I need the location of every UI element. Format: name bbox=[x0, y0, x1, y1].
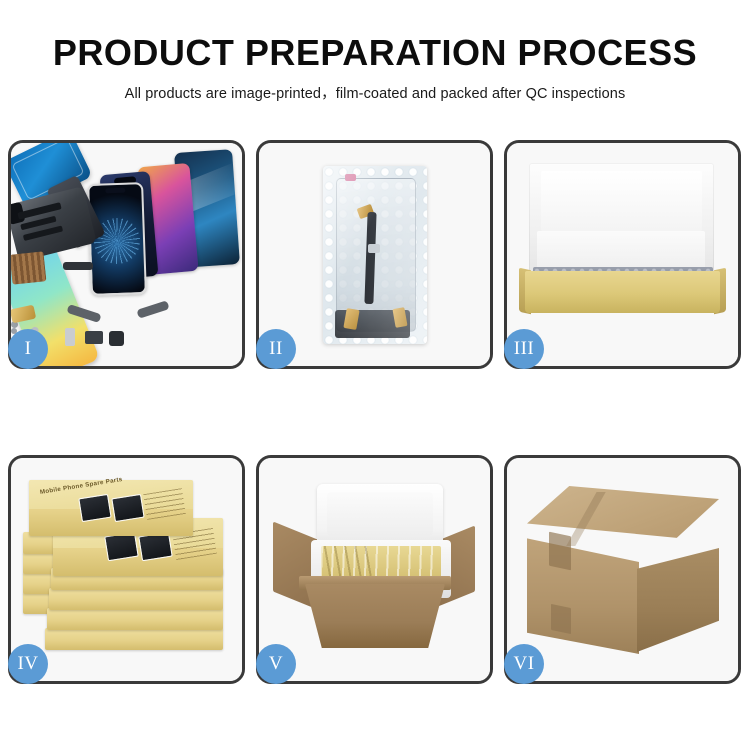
step-image-3 bbox=[507, 143, 738, 366]
box-spec-lines-icon bbox=[144, 488, 187, 520]
step-badge-5: V bbox=[256, 644, 296, 684]
box-product-photo-icon bbox=[104, 532, 138, 562]
flex-cable-part-icon bbox=[136, 300, 169, 318]
box-product-photo-icon bbox=[138, 532, 172, 562]
stack-box-edge bbox=[49, 588, 223, 610]
step-badge-4: IV bbox=[8, 644, 48, 684]
step-badge-2: II bbox=[256, 329, 296, 369]
step-panel-3: III bbox=[504, 140, 741, 369]
step-badge-1: I bbox=[8, 329, 48, 369]
circuit-grid-part-icon bbox=[11, 251, 46, 284]
open-carton-icon bbox=[273, 484, 475, 662]
carton-body-icon bbox=[305, 584, 445, 648]
box-product-photo-icon bbox=[111, 493, 144, 522]
step-panel-1: I bbox=[8, 140, 245, 369]
step-panel-5: V bbox=[256, 455, 493, 684]
step-panel-2: II bbox=[256, 140, 493, 369]
bubble-wrap-bag-icon bbox=[323, 166, 427, 344]
step-badge-3: III bbox=[504, 329, 544, 369]
stack-box-edge bbox=[45, 628, 223, 650]
black-bar-part-icon bbox=[63, 262, 93, 270]
page-header: PRODUCT PREPARATION PROCESS All products… bbox=[0, 0, 750, 103]
phones-and-parts-scene bbox=[11, 143, 242, 366]
box-product-photo-icon bbox=[78, 493, 111, 522]
page-subtitle: All products are image-printed，film-coat… bbox=[0, 82, 750, 103]
carton-side-face-icon bbox=[637, 548, 719, 652]
sealed-carton-icon bbox=[527, 486, 719, 656]
page-title: PRODUCT PREPARATION PROCESS bbox=[0, 34, 750, 72]
carton-front-face-icon bbox=[527, 536, 639, 654]
stacked-boxes-icon: Mobile Phone Spare Parts Mobile Phone Sp… bbox=[23, 480, 231, 666]
step-image-2 bbox=[259, 143, 490, 366]
step-panel-4: Mobile Phone Spare Parts Mobile Phone Sp… bbox=[8, 455, 245, 684]
yellow-box-body-icon bbox=[525, 271, 720, 313]
stack-box-top: Mobile Phone Spare Parts bbox=[29, 480, 193, 536]
step-image-1 bbox=[11, 143, 242, 366]
stack-box-edge bbox=[47, 608, 223, 630]
step-image-6 bbox=[507, 458, 738, 681]
camera-module-part-icon bbox=[109, 331, 124, 346]
phone-notch-icon bbox=[105, 188, 126, 194]
speaker-part-icon bbox=[85, 331, 103, 344]
carton-tape-icon bbox=[551, 604, 571, 634]
plastic-gloss-icon bbox=[323, 166, 427, 344]
phone-black-screen-icon bbox=[87, 182, 147, 296]
step-badge-6: VI bbox=[504, 644, 544, 684]
process-steps-grid: I II bbox=[8, 140, 742, 685]
step-image-4: Mobile Phone Spare Parts Mobile Phone Sp… bbox=[11, 458, 242, 681]
step-image-5 bbox=[259, 458, 490, 681]
step-panel-6: VI bbox=[504, 455, 741, 684]
carton-tape-icon bbox=[549, 532, 571, 571]
side-button-part-icon bbox=[65, 328, 75, 346]
product-preparation-page: PRODUCT PREPARATION PROCESS All products… bbox=[0, 0, 750, 750]
